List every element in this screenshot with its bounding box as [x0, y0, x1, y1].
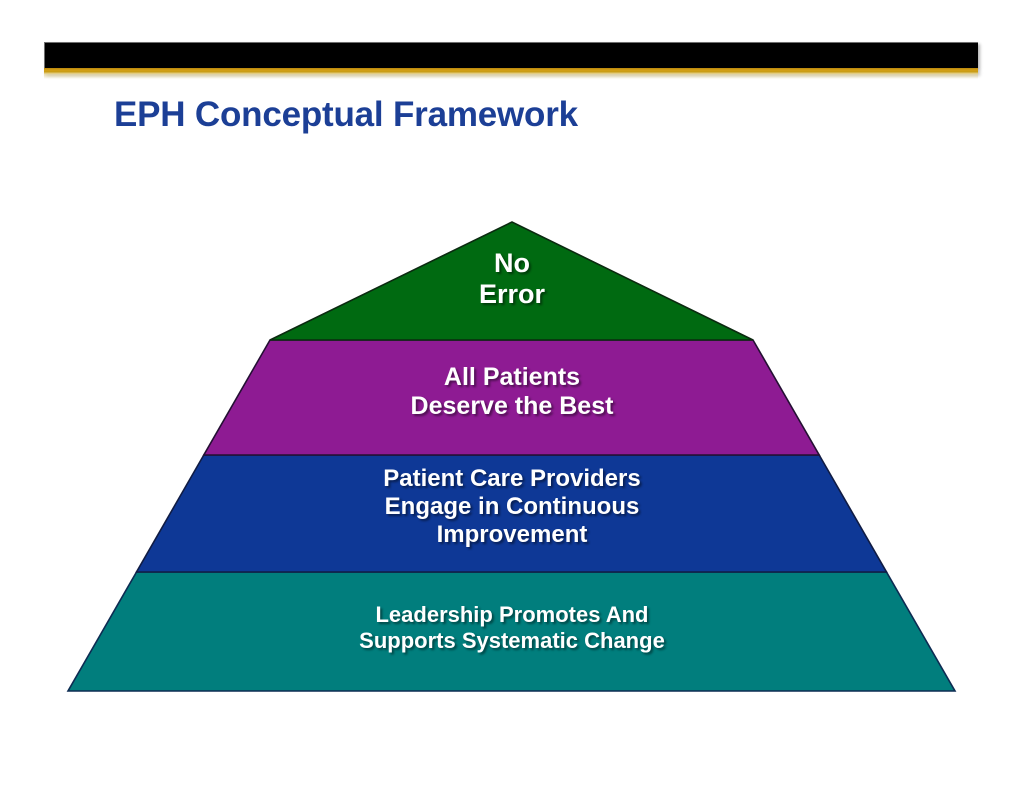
- pyramid-tier-apex[interactable]: [270, 222, 753, 340]
- banner-shadow-fade: [44, 74, 978, 79]
- banner-black-bar: [44, 42, 978, 68]
- page-title: EPH Conceptual Framework: [114, 95, 578, 135]
- pyramid-tier-patients[interactable]: [204, 340, 819, 455]
- pyramid-svg: [60, 210, 964, 705]
- pyramid-tier-providers[interactable]: [137, 455, 887, 572]
- slide-canvas: EPH Conceptual Framework No Error All Pa…: [0, 0, 1024, 791]
- pyramid-diagram: No Error All Patients Deserve the Best P…: [60, 210, 964, 705]
- pyramid-tier-leadership[interactable]: [68, 572, 955, 691]
- top-banner: [44, 42, 978, 68]
